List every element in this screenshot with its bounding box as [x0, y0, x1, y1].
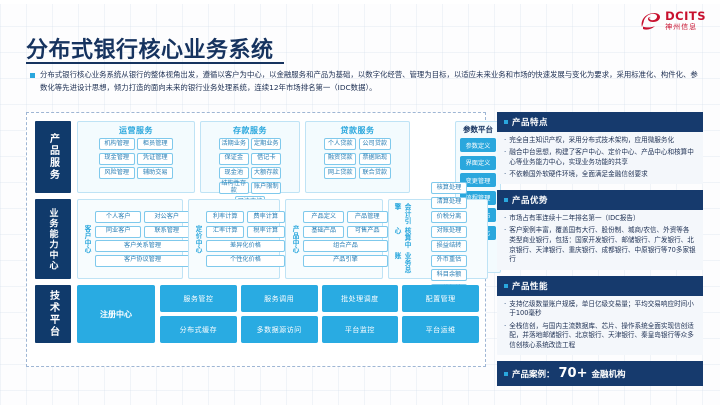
bullet-text: 完全自主知识产权，采用分布式技术架构，应用微服务化 — [509, 136, 674, 146]
product-service-groups: 运营服务 机构管理 柜员管理 现金管理 凭证管理 风险管理 辅助交易 存款服务 … — [77, 121, 479, 193]
chip-item[interactable]: 产品定义 — [303, 211, 344, 223]
chip-item[interactable]: 票据贴现 — [359, 153, 391, 165]
group-operation-service: 运营服务 机构管理 柜员管理 现金管理 凭证管理 风险管理 辅助交易 — [77, 121, 195, 193]
capability-center-groups: 客户中心 个人客户 对公客户 同业客户 联系管理 客户关系管理 客户协议管理 定… — [77, 199, 488, 279]
card-header: 产品优势 — [497, 190, 703, 210]
product-case-bar: 产品案例： 70+ 金融机构 — [497, 361, 703, 386]
bullet-item: · 市场占有率连续十二年排名第一（IDC报告） — [504, 214, 696, 224]
intro-text: 分布式银行核心业务系统从银行的整体视角出发，遵循以客户为中心，以金融服务和产品为… — [40, 69, 698, 94]
bullet-square-icon — [504, 120, 508, 124]
tech-item[interactable]: 分布式缓存 — [160, 316, 237, 343]
chip-item[interactable]: 损益结转 — [431, 240, 467, 252]
card-body: · 支持亿级数量账户规模，单日亿级交易量；平均交易响应时间小于100毫秒 · 全… — [497, 296, 703, 355]
page-title: 分布式银行核心业务系统 — [26, 32, 274, 64]
case-suffix: 金融机构 — [592, 368, 626, 380]
chip-item[interactable]: 凭证管理 — [137, 153, 173, 165]
center-product: 产品中心 产品定义 产品管理 基础产品 可售产品 组合产品 产品引擎 — [285, 199, 383, 279]
center-label: 产品中心 — [289, 203, 301, 275]
top-rule — [0, 0, 720, 4]
bullet-text: 融合中台思想，构建了客户中心、定价中心、产品中心和核算中心等业务能力中心，实现业… — [509, 148, 696, 167]
chip-item[interactable]: 产品引擎 — [303, 255, 388, 267]
card-product-advantages: 产品优势 · 市场占有率连续十二年排名第一（IDC报告） · 客户案例丰富，覆盖… — [497, 190, 703, 269]
layer-label-tech-platform: 技术平台 — [35, 285, 71, 343]
chip-item[interactable]: 费率计算 — [247, 211, 285, 223]
group-title: 贷款服务 — [309, 125, 406, 136]
center-label: 客户中心 — [81, 203, 93, 275]
tech-item[interactable]: 平台运维 — [402, 316, 479, 343]
param-button[interactable]: 参数定义 — [460, 138, 496, 152]
chip-item[interactable]: 现金池 — [219, 167, 249, 179]
chip-item[interactable]: 税率计算 — [247, 226, 285, 238]
layer-product-service: 产品服务 运营服务 机构管理 柜员管理 现金管理 凭证管理 风险管理 辅助交易 … — [35, 121, 479, 193]
slide-root: DCITS 神州信息 分布式银行核心业务系统 分布式银行核心业务系统从银行的整体… — [0, 0, 720, 405]
chip-item[interactable]: 风险管理 — [99, 167, 135, 179]
bullet-dot-icon: · — [504, 148, 506, 158]
group-title: 运营服务 — [81, 125, 191, 136]
chip-item[interactable]: 公司贷款 — [359, 138, 391, 150]
chip-item[interactable]: 账户限制 — [251, 182, 281, 194]
brand-logo: DCITS 神州信息 — [639, 11, 706, 31]
tech-item[interactable]: 多数据源访问 — [241, 316, 318, 343]
param-button[interactable]: 界面定义 — [460, 156, 496, 170]
dcits-swirl-icon — [639, 11, 661, 31]
tech-item[interactable]: 平台监控 — [322, 316, 399, 343]
bullet-text: 客户案例丰富，覆盖国有大行、股份制、城商/农信、外资等各类型商业银行，包括：国家… — [509, 226, 696, 264]
tech-platform-content: 注册中心 服务管控 服务调用 批处理调度 配置管理 分布式缓存 多数据源访问 平… — [77, 285, 479, 343]
center-pricing: 定价中心 利率计算 费率计算 汇率计算 税率计算 差异化价格 个性化价格 — [188, 199, 280, 279]
bullet-dot-icon: · — [504, 136, 506, 146]
card-title: 产品优势 — [512, 194, 548, 206]
center-customer: 客户中心 个人客户 对公客户 同业客户 联系管理 客户关系管理 客户协议管理 — [77, 199, 183, 279]
chip-item[interactable]: 柜员管理 — [137, 138, 173, 150]
chip-item[interactable]: 价税分离 — [431, 211, 467, 223]
chip-item[interactable]: 客户协议管理 — [95, 255, 190, 267]
chip-item[interactable]: 产品管理 — [347, 211, 388, 223]
bullet-text: 支持亿级数量账户规模，单日亿级交易量；平均交易响应时间小于100毫秒 — [509, 300, 696, 319]
chip-item[interactable]: 对账处理 — [431, 226, 467, 238]
chip-item[interactable]: 个人贷款 — [324, 138, 356, 150]
center-label: 定价中心 — [192, 203, 204, 275]
chip-item[interactable]: 结构性存款 — [219, 182, 249, 194]
bullet-dot-icon: · — [504, 214, 506, 224]
chip-item[interactable]: 活期业务 — [219, 138, 249, 150]
card-body: · 市场占有率连续十二年排名第一（IDC报告） · 客户案例丰富，覆盖国有大行、… — [497, 210, 703, 269]
chip-item[interactable]: 联合贷款 — [359, 167, 391, 179]
tech-item[interactable]: 批处理调度 — [322, 285, 399, 312]
bullet-square-icon — [504, 198, 508, 202]
group-deposit-service: 存款服务 活期业务 定期业务 保证金 借记卡 现金池 大额存款 结构性存款 账户… — [200, 121, 300, 193]
bullet-item: · 不依赖国外软硬件环境，全面满足金融信创要求 — [504, 170, 696, 180]
bullet-item: · 全栈信创，与国内主流数据库、芯片、操作系统全面实现信创适配，并落地邮储银行、… — [504, 322, 696, 351]
center-accounting: 会计引擎 核算中心 业务总账 核算处理 清算处理 价税分离 对账处理 损益结转 … — [388, 199, 488, 279]
card-title: 产品性能 — [512, 280, 548, 292]
bullet-text: 市场占有率连续十二年排名第一（IDC报告） — [509, 214, 639, 224]
bullet-square-icon — [504, 372, 508, 376]
title-underline — [26, 62, 284, 64]
bullet-dot-icon: · — [504, 322, 506, 332]
chip-item[interactable]: 现金管理 — [99, 153, 135, 165]
tech-item[interactable]: 服务管控 — [160, 285, 237, 312]
chip-item[interactable]: 网上贷款 — [324, 167, 356, 179]
card-header: 产品特点 — [497, 112, 703, 132]
layer-tech-platform: 技术平台 注册中心 服务管控 服务调用 批处理调度 配置管理 分布式缓存 多数据… — [35, 285, 479, 343]
layer-label-product-service: 产品服务 — [35, 121, 71, 193]
bullet-square-icon — [30, 73, 35, 78]
card-body: · 完全自主知识产权，采用分布式技术架构，应用微服务化 · 融合中台思想，构建了… — [497, 132, 703, 184]
register-center-block[interactable]: 注册中心 — [77, 285, 155, 343]
bullet-dot-icon: · — [504, 226, 506, 236]
chip-item[interactable]: 借记卡 — [251, 153, 281, 165]
bullet-text: 全栈信创，与国内主流数据库、芯片、操作系统全面实现信创适配，并落地邮储银行、北京… — [509, 322, 696, 351]
tech-item[interactable]: 配置管理 — [402, 285, 479, 312]
chip-item[interactable]: 融资贷款 — [324, 153, 356, 165]
chip-item[interactable]: 个性化价格 — [206, 255, 285, 267]
chip-item[interactable]: 辅助交易 — [137, 167, 173, 179]
chip-item[interactable]: 保证金 — [219, 153, 249, 165]
chip-item[interactable]: 定期业务 — [251, 138, 281, 150]
chip-item[interactable]: 利率计算 — [206, 211, 244, 223]
bullet-item: · 融合中台思想，构建了客户中心、定价中心、产品中心和核算中心等业务能力中心，实… — [504, 148, 696, 167]
group-title: 存款服务 — [204, 125, 296, 136]
chip-item[interactable]: 机构管理 — [99, 138, 135, 150]
logo-text-en: DCITS — [665, 11, 706, 23]
center-label: 会计引擎 核算中心 业务总账 — [392, 203, 412, 275]
chip-item[interactable]: 对公客户 — [144, 211, 190, 223]
intro-paragraph: 分布式银行核心业务系统从银行的整体视角出发，遵循以客户为中心，以金融服务和产品为… — [30, 69, 698, 94]
chip-item[interactable]: 客户关系管理 — [95, 240, 190, 252]
chip-item[interactable]: 汇率计算 — [206, 226, 244, 238]
bullet-item: · 支持亿级数量账户规模，单日亿级交易量；平均交易响应时间小于100毫秒 — [504, 300, 696, 319]
architecture-diagram: 产品服务 运营服务 机构管理 柜员管理 现金管理 凭证管理 风险管理 辅助交易 … — [26, 112, 486, 367]
chip-item[interactable]: 组合产品 — [303, 240, 388, 252]
card-header: 产品性能 — [497, 276, 703, 296]
bullet-dot-icon: · — [504, 300, 506, 310]
chip-item[interactable]: 清算处理 — [431, 197, 467, 209]
center-label-main: 核算中心 — [392, 227, 412, 250]
group-loan-service: 贷款服务 个人贷款 公司贷款 融资贷款 票据贴现 网上贷款 联合贷款 — [305, 121, 410, 193]
card-title: 产品特点 — [512, 116, 548, 128]
chip-item[interactable]: 核算处理 — [431, 182, 467, 194]
parameter-platform-title: 参数平台 — [463, 124, 493, 135]
right-panel: 产品特点 · 完全自主知识产权，采用分布式技术架构，应用微服务化 · 融合中台思… — [497, 112, 703, 367]
center-label-secondary-2: 业务总账 — [392, 252, 412, 275]
chip-item[interactable]: 大额存款 — [251, 167, 281, 179]
chip-item[interactable]: 可售产品 — [347, 226, 388, 238]
center-label-secondary: 会计引擎 — [392, 203, 412, 226]
layer-capability-center: 业务能力中心 客户中心 个人客户 对公客户 同业客户 联系管理 客户关系管理 客… — [35, 199, 449, 279]
tech-item[interactable]: 服务调用 — [241, 285, 318, 312]
bullet-text: 不依赖国外软硬件环境，全面满足金融信创要求 — [509, 170, 647, 180]
case-label: 产品案例： — [512, 368, 555, 380]
chip-item[interactable]: 联系管理 — [144, 226, 190, 238]
chip-item[interactable]: 个人客户 — [95, 211, 141, 223]
chip-item[interactable]: 基础产品 — [303, 226, 344, 238]
chip-item[interactable]: 差异化价格 — [206, 240, 285, 252]
logo-text-cn: 神州信息 — [665, 24, 706, 31]
card-product-features: 产品特点 · 完全自主知识产权，采用分布式技术架构，应用微服务化 · 融合中台思… — [497, 112, 703, 184]
bullet-item: · 客户案例丰富，覆盖国有大行、股份制、城商/农信、外资等各类型商业银行，包括：… — [504, 226, 696, 264]
chip-item[interactable]: 外币重估 — [431, 255, 467, 267]
bullet-dot-icon: · — [504, 170, 506, 180]
bullet-item: · 完全自主知识产权，采用分布式技术架构，应用微服务化 — [504, 136, 696, 146]
layer-label-capability-center: 业务能力中心 — [35, 199, 71, 279]
card-product-performance: 产品性能 · 支持亿级数量账户规模，单日亿级交易量；平均交易响应时间小于100毫… — [497, 276, 703, 355]
chip-item[interactable]: 同业客户 — [95, 226, 141, 238]
tech-platform-grid: 服务管控 服务调用 批处理调度 配置管理 分布式缓存 多数据源访问 平台监控 平… — [160, 285, 479, 343]
chip-item[interactable]: 科目余额 — [431, 269, 467, 281]
case-number: 70+ — [559, 366, 588, 381]
bullet-square-icon — [504, 284, 508, 288]
